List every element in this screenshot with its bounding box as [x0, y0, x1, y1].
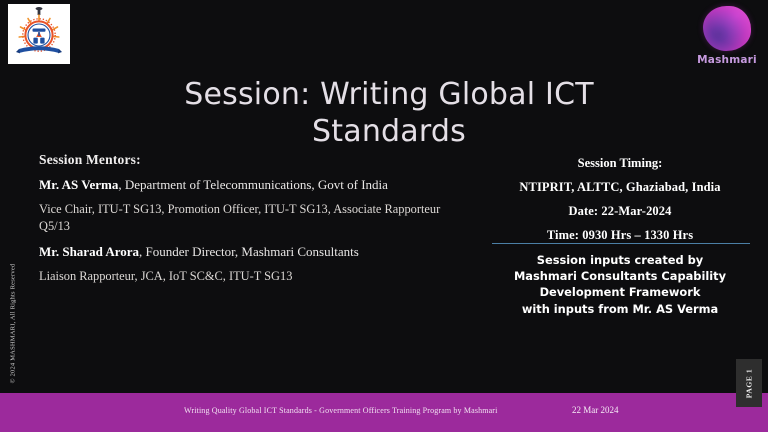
mentor-roles-1: Liaison Rapporteur, JCA, IoT SC&C, ITU-T…	[39, 268, 459, 285]
government-emblem-logo	[8, 4, 70, 64]
page-number-badge: PAGE 1	[736, 359, 762, 407]
page-title: Session: Writing Global ICT Standards	[154, 76, 624, 150]
mentor-entry-name-1: Mr. Sharad Arora, Founder Director, Mash…	[39, 243, 459, 261]
session-mentors-heading: Session Mentors:	[39, 152, 459, 168]
session-credits-block: Session inputs created by Mashmari Consu…	[484, 252, 756, 317]
mentor-entry-name-0: Mr. AS Verma, Department of Telecommunic…	[39, 176, 459, 194]
mentor-name-0: Mr. AS Verma	[39, 177, 118, 192]
section-divider	[492, 243, 750, 244]
session-timing-heading: Session Timing:	[484, 156, 756, 171]
credits-line-1: Session inputs created by	[484, 252, 756, 268]
mentor-roles-0: Vice Chair, ITU-T SG13, Promotion Office…	[39, 201, 459, 235]
copyright-notice: © 2024 MASHMARI, All Rights Reserved	[10, 264, 17, 384]
footer-date: 22 Mar 2024	[572, 405, 619, 415]
mashmari-blob-icon	[703, 6, 751, 51]
footer-bar: Writing Quality Global ICT Standards - G…	[0, 393, 768, 432]
emblem-icon	[12, 7, 66, 61]
session-mentors-block: Session Mentors: Mr. AS Verma, Departmen…	[39, 152, 459, 292]
session-timing-block: Session Timing: NTIPRIT, ALTTC, Ghaziaba…	[484, 156, 756, 252]
mentor-affiliation-0: , Department of Telecommunications, Govt…	[118, 177, 388, 192]
page-number-label: PAGE 1	[745, 368, 754, 398]
mashmari-wordmark: Mashmari	[694, 54, 760, 66]
mashmari-logo: Mashmari	[694, 6, 760, 68]
presentation-slide: Mashmari Session: Writing Global ICT Sta…	[0, 0, 768, 432]
session-date: Date: 22-Mar-2024	[484, 204, 756, 219]
mentor-affiliation-1: , Founder Director, Mashmari Consultants	[139, 244, 359, 259]
session-venue: NTIPRIT, ALTTC, Ghaziabad, India	[484, 180, 756, 195]
credits-line-2: Mashmari Consultants Capability	[484, 268, 756, 284]
credits-line-4: with inputs from Mr. AS Verma	[484, 301, 756, 317]
credits-line-3: Development Framework	[484, 284, 756, 300]
session-time: Time: 0930 Hrs – 1330 Hrs	[484, 228, 756, 243]
footer-title: Writing Quality Global ICT Standards - G…	[184, 406, 498, 415]
mentor-name-1: Mr. Sharad Arora	[39, 244, 139, 259]
